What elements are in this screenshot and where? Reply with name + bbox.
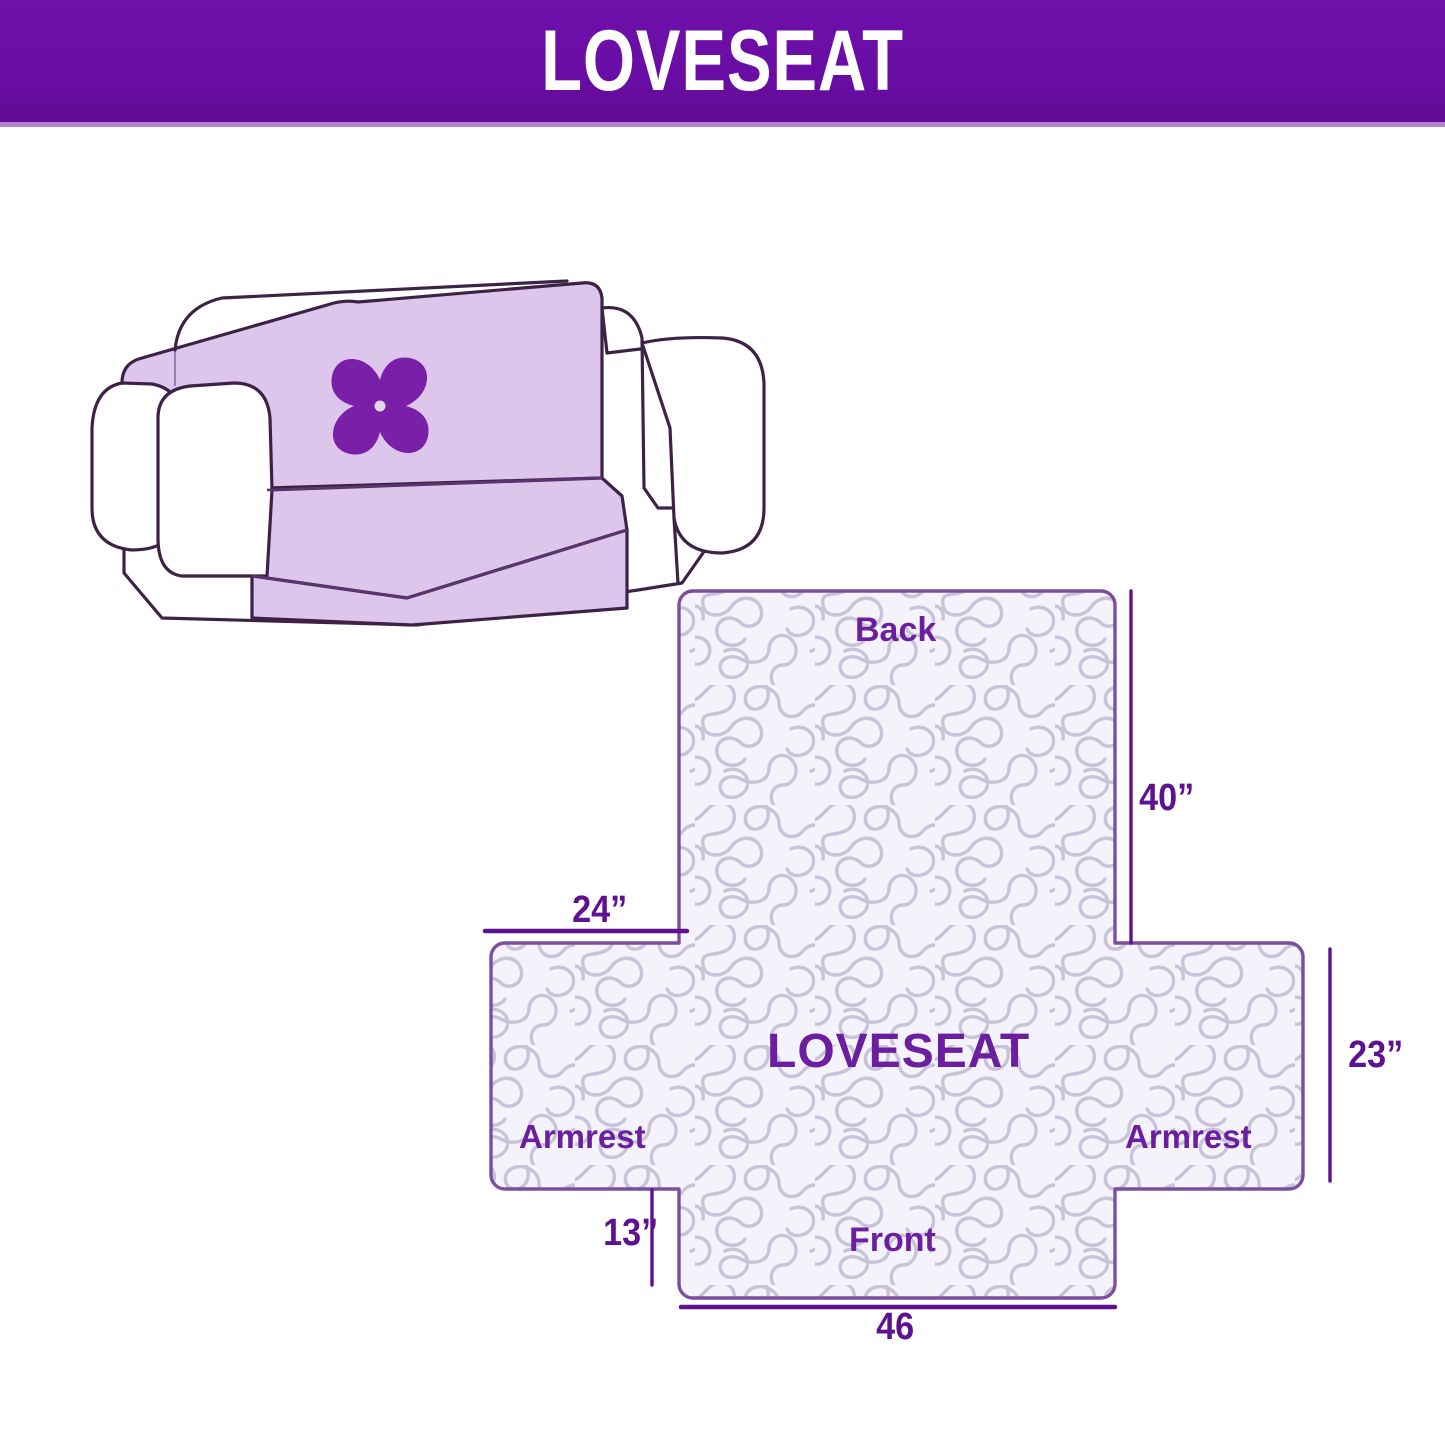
sofa-left-arm [158,383,272,576]
slipcover-cross-shape [491,591,1303,1298]
product-dimension-infographic: LOVESEAT [0,0,1445,1445]
dimension-label-back-offset: 24” [572,891,627,929]
page-title: LOVESEAT [159,0,1286,122]
panel-label-front: Front [849,1223,936,1257]
dimension-label-back-height: 40” [1139,779,1194,817]
dimension-label-front-height: 13” [603,1214,658,1252]
header-banner-underline [0,122,1445,127]
panel-label-armrest-left: Armrest [519,1120,646,1153]
panel-label-center: LOVESEAT [767,1028,1030,1076]
dimension-label-armrest-depth: 23” [1348,1036,1403,1074]
panel-label-back: Back [855,613,936,647]
dimension-label-front-width: 46 [876,1308,914,1346]
panel-label-armrest-right: Armrest [1125,1120,1252,1153]
